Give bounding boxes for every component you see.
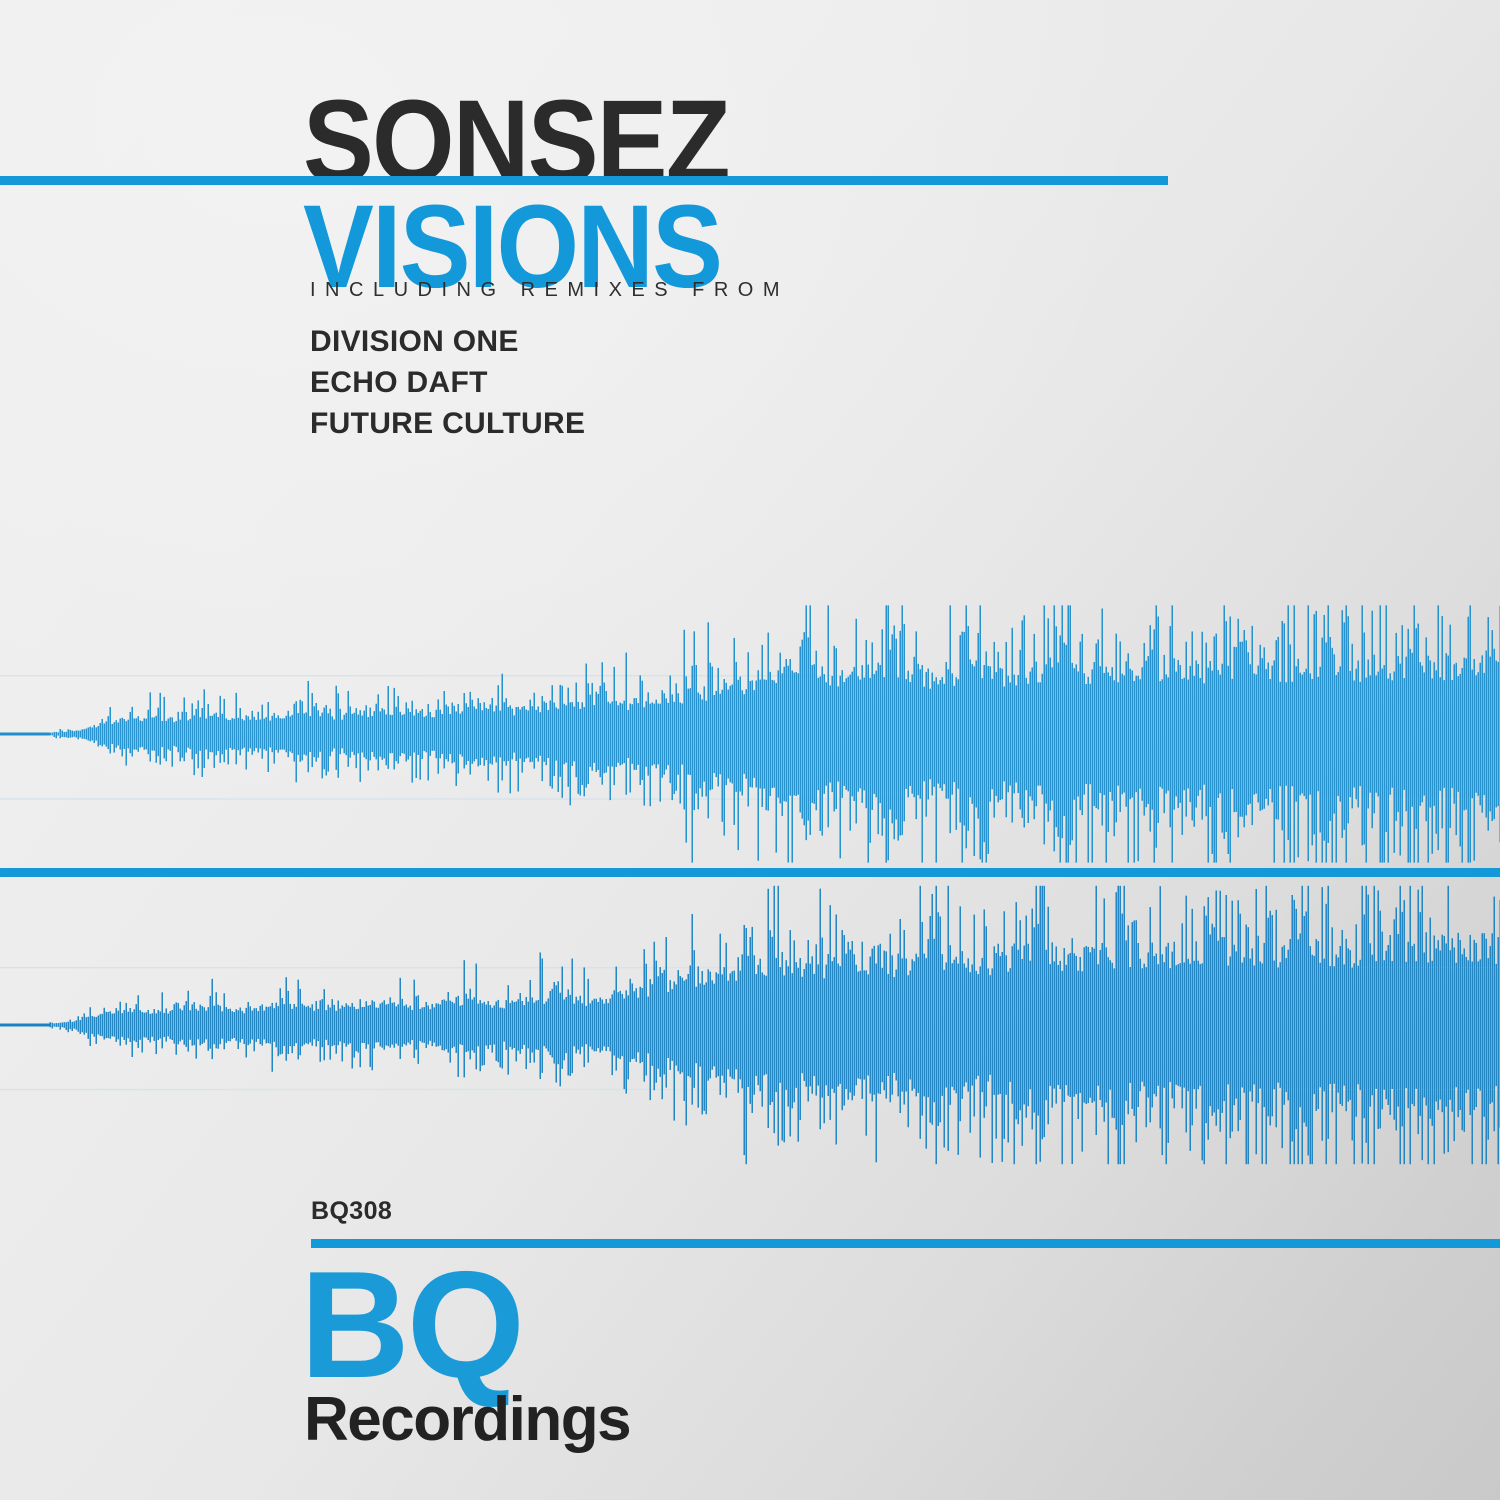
remixer-item: DIVISION ONE xyxy=(310,321,789,362)
album-cover: SONSEZ VISIONS INCLUDING REMIXES FROM DI… xyxy=(0,0,1500,1500)
waveform-track-one xyxy=(0,600,1500,868)
remix-credits-label: INCLUDING REMIXES FROM xyxy=(310,279,789,302)
waveform-track-two xyxy=(0,880,1500,1170)
remixer-item: FUTURE CULTURE xyxy=(310,403,789,444)
remixer-item: ECHO DAFT xyxy=(310,362,789,403)
remixer-list: DIVISION ONE ECHO DAFT FUTURE CULTURE xyxy=(310,321,789,444)
catalog-number: BQ308 xyxy=(311,1197,392,1226)
divider-rule-middle xyxy=(0,868,1500,877)
remix-credits: INCLUDING REMIXES FROM DIVISION ONE ECHO… xyxy=(310,279,789,444)
logo-wordmark: Recordings xyxy=(304,1389,630,1451)
divider-rule-top xyxy=(0,176,1168,185)
title-block: SONSEZ VISIONS xyxy=(303,92,1203,299)
label-logo: BQ Recordings xyxy=(300,1266,630,1451)
logo-mark-bq: BQ xyxy=(300,1266,630,1385)
